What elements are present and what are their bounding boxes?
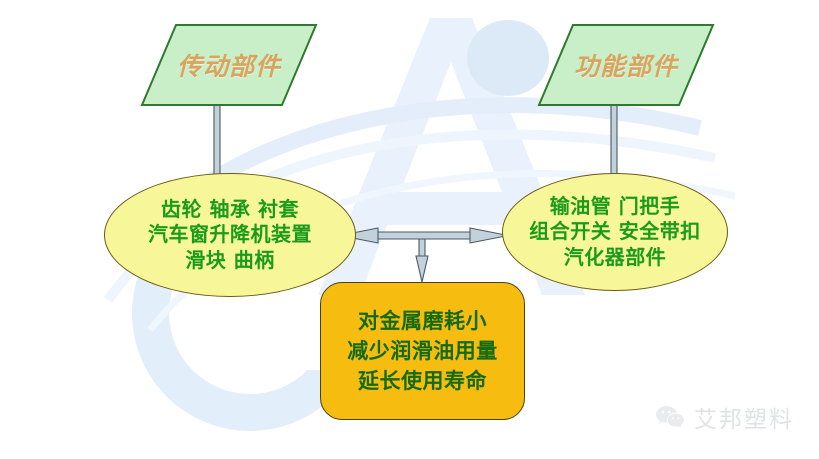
node-transmission-examples[interactable]: 齿轮 轴承 衬套 汽车窗升降机装置 滑块 曲柄 (104, 173, 356, 297)
node-transmission-examples-label: 齿轮 轴承 衬套 汽车窗升降机装置 滑块 曲柄 (148, 197, 312, 274)
brand-name: 艾邦塑料 (694, 400, 794, 434)
node-benefits[interactable]: 对金属磨耗小 减少润滑油用量 延长使用寿命 (320, 282, 525, 420)
node-functional-examples-label: 输油管 门把手 组合开关 安全带扣 汽化器部件 (529, 194, 700, 271)
brand-watermark: 艾邦塑料 (655, 400, 794, 434)
benefits-down-arrow (416, 239, 428, 282)
node-transmission-parts[interactable]: 传动部件 (140, 23, 318, 107)
node-functional-parts[interactable]: 功能部件 (537, 23, 715, 107)
node-benefits-label: 对金属磨耗小 减少润滑油用量 延长使用寿命 (347, 306, 498, 395)
wechat-icon (655, 404, 685, 430)
node-transmission-parts-label: 传动部件 (177, 47, 281, 83)
node-functional-parts-label: 功能部件 (574, 47, 678, 83)
examples-double-arrow (340, 228, 508, 243)
diagram-canvas: 传动部件 功能部件 齿轮 轴承 衬套 汽车窗升降机装置 滑块 曲柄 输油管 门把… (0, 0, 819, 459)
node-functional-examples[interactable]: 输油管 门把手 组合开关 安全带扣 汽化器部件 (502, 173, 728, 291)
